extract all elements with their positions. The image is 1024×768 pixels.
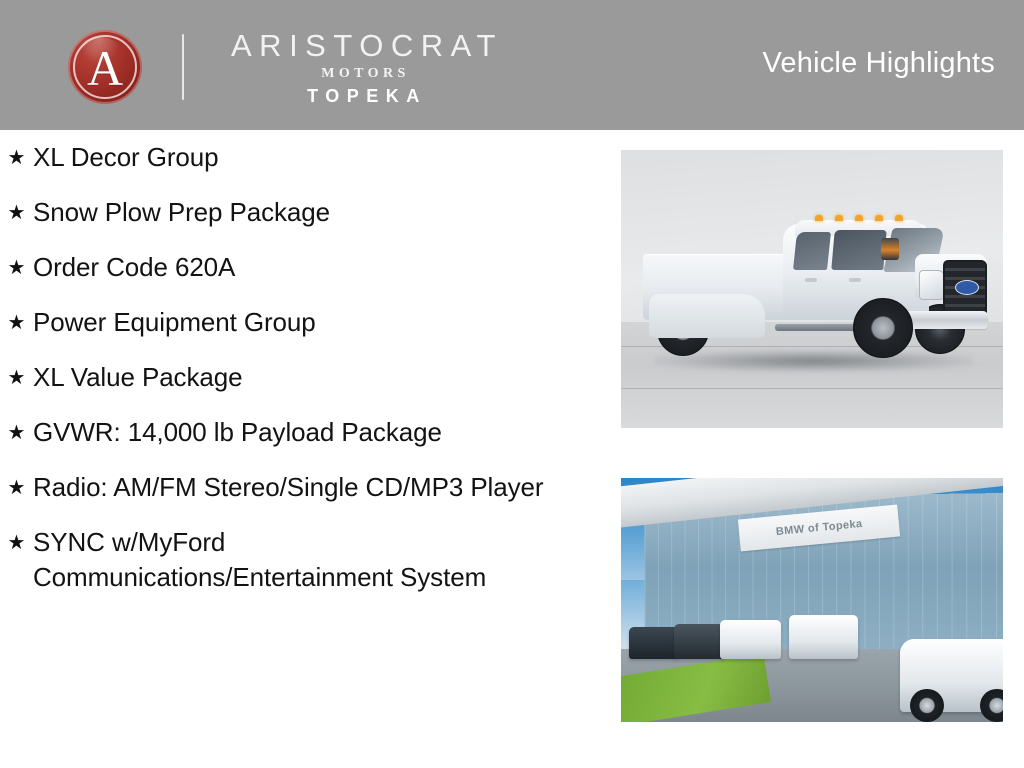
list-item: ★ Radio: AM/FM Stereo/Single CD/MP3 Play… (0, 470, 600, 506)
list-item: ★ XL Value Package (0, 360, 600, 396)
list-item: ★ XL Decor Group (0, 140, 600, 176)
parked-car (629, 627, 679, 659)
truck-illustration (643, 198, 988, 383)
list-item: ★ Power Equipment Group (0, 305, 600, 341)
parked-car (720, 620, 781, 659)
dealership-sign-label: BMW of Topeka (776, 518, 864, 538)
ford-badge-icon (955, 280, 979, 295)
brand-wordmark: ARISTOCRAT MOTORS TOPEKA (224, 28, 503, 107)
emblem-letter: A (87, 43, 123, 93)
truck-roof-marker-light (855, 215, 863, 221)
list-item-label: SYNC w/MyFord Communications/Entertainme… (33, 525, 568, 595)
truck-rear-window (793, 232, 831, 270)
star-bullet-icon: ★ (0, 525, 33, 561)
list-item-label: Order Code 620A (33, 250, 235, 285)
star-bullet-icon: ★ (0, 305, 33, 341)
star-bullet-icon: ★ (0, 470, 33, 506)
parked-car-foreground (900, 639, 1003, 712)
list-item: ★ GVWR: 14,000 lb Payload Package (0, 415, 600, 451)
list-item: ★ SYNC w/MyFord Communications/Entertain… (0, 525, 600, 595)
truck-door-handle (805, 278, 817, 282)
list-item: ★ Snow Plow Prep Package (0, 195, 600, 231)
aristocrat-emblem-icon: A (68, 30, 142, 104)
vehicle-highlights-list: ★ XL Decor Group ★ Snow Plow Prep Packag… (0, 140, 600, 614)
star-bullet-icon: ★ (0, 195, 33, 231)
truck-roof-marker-light (895, 215, 903, 221)
truck-door-handle (849, 278, 861, 282)
list-item-label: Power Equipment Group (33, 305, 316, 340)
list-item-label: GVWR: 14,000 lb Payload Package (33, 415, 442, 450)
slide: A ARISTOCRAT MOTORS TOPEKA Vehicle Highl… (0, 0, 1024, 768)
vehicle-photo-caption: White Ford Super Duty dually crew-cab pi… (621, 150, 622, 151)
vehicle-photo: White Ford Super Duty dually crew-cab pi… (621, 150, 1003, 428)
brand-subtitle: MOTORS (317, 66, 409, 81)
truck-roof-marker-light (815, 215, 823, 221)
page-title: Vehicle Highlights (762, 48, 995, 80)
truck-door-window (831, 230, 886, 270)
truck-roof-marker-light (835, 215, 843, 221)
list-item-label: XL Decor Group (33, 140, 219, 175)
truck-side-mirror (881, 238, 899, 260)
star-bullet-icon: ★ (0, 360, 33, 396)
list-item-label: XL Value Package (33, 360, 242, 395)
brand-city: TOPEKA (300, 87, 427, 107)
truck-front-wheel (853, 298, 913, 358)
truck-rear-fender (649, 294, 765, 338)
slide-header: A ARISTOCRAT MOTORS TOPEKA Vehicle Highl… (0, 0, 1024, 130)
dealership-photo: BMW of Topeka BMW of Topeka dealership b… (621, 478, 1003, 722)
truck-headlight (919, 270, 945, 300)
brand-divider (182, 34, 184, 100)
parked-car (674, 624, 724, 658)
star-bullet-icon: ★ (0, 140, 33, 176)
car-wheel (980, 689, 1003, 722)
truck-shadow (655, 350, 973, 372)
list-item-label: Snow Plow Prep Package (33, 195, 330, 230)
brand-lockup: A ARISTOCRAT MOTORS TOPEKA (68, 30, 503, 104)
car-wheel (910, 689, 944, 722)
list-item-label: Radio: AM/FM Stereo/Single CD/MP3 Player (33, 470, 543, 505)
brand-name: ARISTOCRAT (224, 30, 503, 62)
list-item: ★ Order Code 620A (0, 250, 600, 286)
parked-car (789, 615, 858, 659)
truck-roof-marker-light (875, 215, 883, 221)
star-bullet-icon: ★ (0, 415, 33, 451)
star-bullet-icon: ★ (0, 250, 33, 286)
